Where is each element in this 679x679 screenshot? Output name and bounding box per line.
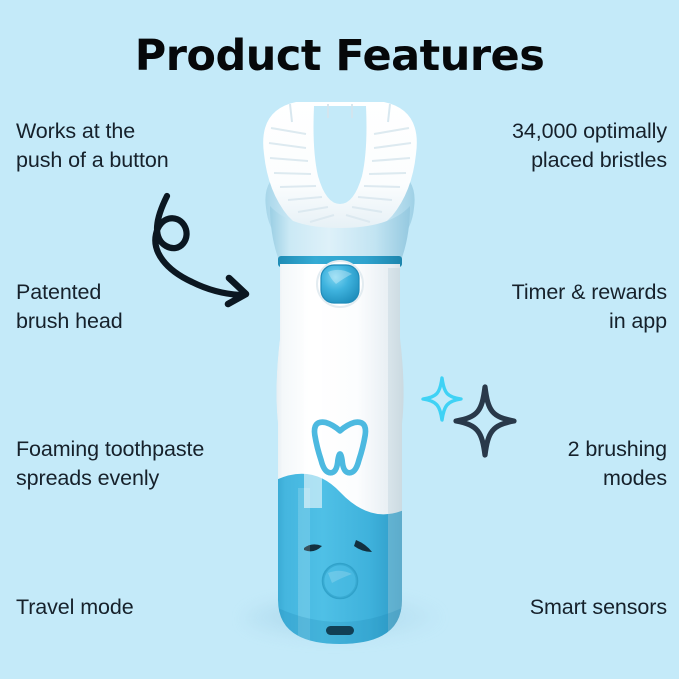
page-title: Product Features: [0, 31, 679, 81]
feature-label-push-of-a-button: Works at the push of a button: [16, 117, 169, 175]
mode-button[interactable]: [323, 564, 357, 598]
curly-arrow-icon: [136, 190, 276, 315]
feature-label-timer-and-rewards: Timer & rewards in app: [512, 278, 667, 336]
product-features-infographic: Product Features: [0, 0, 679, 679]
feature-label-brushing-modes: 2 brushing modes: [568, 435, 667, 493]
feature-label-placed-bristles: 34,000 optimally placed bristles: [512, 117, 667, 175]
body-highlight: [304, 268, 322, 508]
feature-label-smart-sensors: Smart sensors: [530, 593, 667, 622]
power-button-visual[interactable]: [317, 261, 363, 307]
toothbrush-illustration: [240, 88, 440, 648]
feature-label-foaming-toothpaste: Foaming toothpaste spreads evenly: [16, 435, 204, 493]
feature-label-travel-mode: Travel mode: [16, 593, 134, 622]
feature-label-patented-brush-head: Patented brush head: [16, 278, 123, 336]
sparkle-large-icon: [452, 383, 518, 459]
